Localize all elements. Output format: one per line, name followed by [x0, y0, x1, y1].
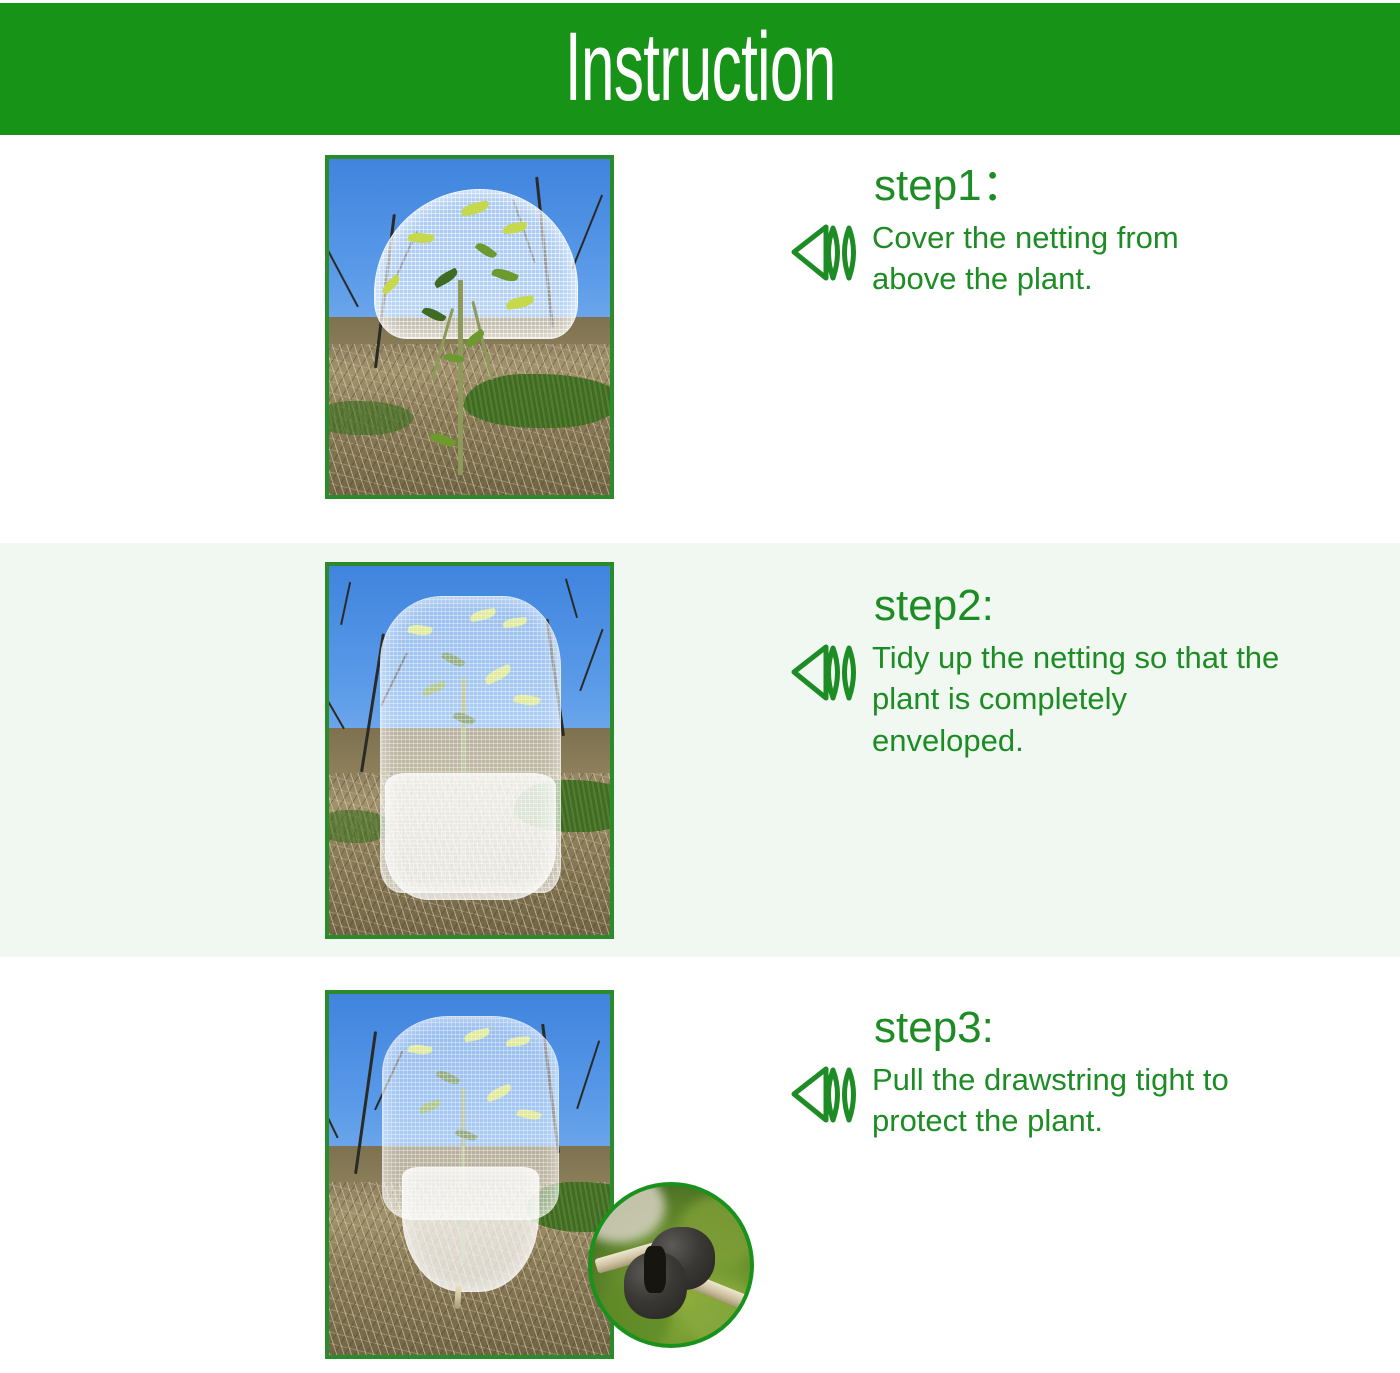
- inset-mesh-blur: [588, 1182, 665, 1243]
- step2-description: Tidy up the netting so that the plant is…: [872, 635, 1286, 761]
- netting-bag-skirt: [385, 773, 556, 900]
- step2-heading: step2:: [874, 583, 1286, 629]
- double-chevron-left-icon: [786, 221, 864, 285]
- step3-text-block: step3: Pull the drawstring tight to prot…: [786, 1005, 1266, 1142]
- step3-heading: step3:: [874, 1005, 1266, 1051]
- step3-description: Pull the drawstring tight to protect the…: [872, 1057, 1266, 1141]
- step1-photo: [325, 155, 614, 499]
- step3-photo-scene: [329, 994, 610, 1355]
- step3-body-row: Pull the drawstring tight to protect the…: [786, 1057, 1266, 1141]
- double-chevron-left-icon: [786, 641, 864, 705]
- step1-photo-scene: [329, 159, 610, 495]
- header-banner: Instruction: [0, 3, 1400, 135]
- step2-text-block: step2: Tidy up the netting so that the p…: [786, 583, 1286, 761]
- grass-patch: [329, 401, 413, 435]
- grass-patch: [464, 374, 610, 428]
- plant-stem: [458, 280, 463, 475]
- step3-photo: [325, 990, 614, 1359]
- step1-description: Cover the netting from above the plant.: [872, 215, 1256, 299]
- cord-lock-slot: [644, 1246, 666, 1293]
- drawstring-detail-inset: [588, 1182, 754, 1348]
- page-title: Instruction: [565, 18, 836, 115]
- step1-heading: step1：: [874, 163, 1256, 209]
- step1-text-block: step1： Cover the netting from above the …: [786, 163, 1256, 300]
- step2-body-row: Tidy up the netting so that the plant is…: [786, 635, 1286, 761]
- double-chevron-left-icon: [786, 1063, 864, 1127]
- step2-photo: [325, 562, 614, 939]
- step1-body-row: Cover the netting from above the plant.: [786, 215, 1256, 299]
- step2-photo-scene: [329, 566, 610, 935]
